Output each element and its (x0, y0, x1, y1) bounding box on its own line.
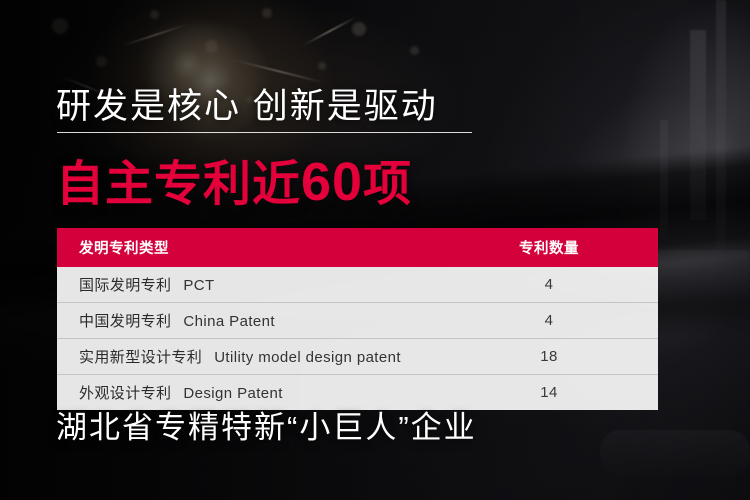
patent-type-cn: 中国发明专利 (79, 313, 171, 330)
subtitle: 自主专利近60项 (56, 144, 412, 214)
poster-content: 研发是核心 创新是驱动 自主专利近60项 发明专利类型 专利数量 国际发明专利P… (0, 0, 750, 500)
subtitle-prefix: 自主专利近 (56, 158, 301, 211)
patent-qty-cell: 4 (474, 267, 658, 303)
patent-table: 发明专利类型 专利数量 国际发明专利PCT 4 中国发明专利China Pate… (57, 228, 658, 410)
patent-type-en: Design Patent (183, 385, 282, 402)
title-divider (57, 132, 472, 133)
patent-type-cell: 中国发明专利China Patent (57, 303, 474, 339)
patent-type-cell: 国际发明专利PCT (57, 267, 474, 303)
table-row: 中国发明专利China Patent 4 (57, 303, 658, 339)
poster: 研发是核心 创新是驱动 自主专利近60项 发明专利类型 专利数量 国际发明专利P… (0, 0, 750, 500)
patent-type-cn: 国际发明专利 (79, 277, 171, 294)
footer-caption: 湖北省专精特新“小巨人”企业 (56, 402, 477, 447)
table-row: 实用新型设计专利Utility model design patent 18 (57, 339, 658, 375)
patent-type-cn: 外观设计专利 (79, 385, 171, 402)
patent-type-en: Utility model design patent (214, 349, 401, 366)
page-title: 研发是核心 创新是驱动 (56, 78, 438, 129)
column-header-quantity: 专利数量 (474, 228, 658, 267)
column-header-type: 发明专利类型 (57, 228, 474, 267)
patent-qty-cell: 4 (474, 303, 658, 339)
patent-qty-cell: 14 (474, 375, 658, 411)
patent-type-cell: 实用新型设计专利Utility model design patent (57, 339, 474, 375)
patent-type-cn: 实用新型设计专利 (79, 349, 202, 366)
subtitle-number: 60 (301, 152, 363, 212)
subtitle-suffix: 项 (363, 158, 412, 211)
table-row: 国际发明专利PCT 4 (57, 267, 658, 303)
table-head: 发明专利类型 专利数量 (57, 228, 658, 267)
table-body: 国际发明专利PCT 4 中国发明专利China Patent 4 实用新型设计专… (57, 267, 658, 410)
patent-type-en: PCT (183, 277, 214, 294)
patent-qty-cell: 18 (474, 339, 658, 375)
patent-type-en: China Patent (183, 313, 275, 330)
table-header-row: 发明专利类型 专利数量 (57, 228, 658, 267)
